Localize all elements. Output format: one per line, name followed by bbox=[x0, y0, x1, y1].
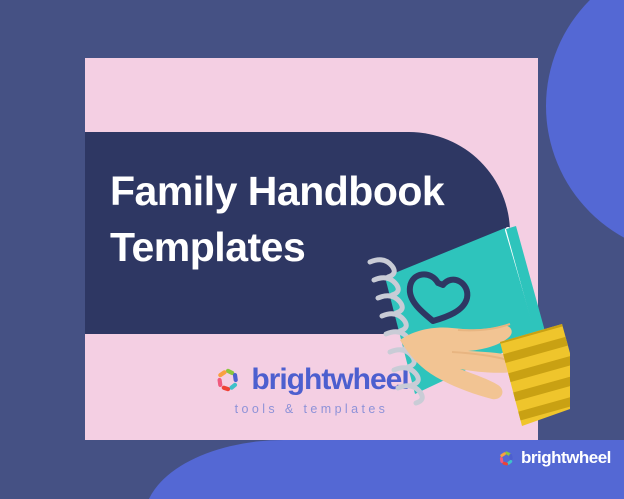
footer-brand-wordmark: brightwheel bbox=[521, 448, 611, 468]
footer-brand-lockup: brightwheel bbox=[498, 448, 611, 468]
hand-holding-spiral-notebook-illustration bbox=[340, 222, 570, 444]
title-card-canvas: Family Handbook Templates bbox=[0, 0, 624, 499]
brightwheel-pinwheel-icon bbox=[498, 450, 515, 467]
page-title-line-1: Family Handbook bbox=[110, 163, 510, 219]
brightwheel-pinwheel-icon bbox=[214, 366, 242, 394]
background-blob-right bbox=[546, 0, 624, 256]
